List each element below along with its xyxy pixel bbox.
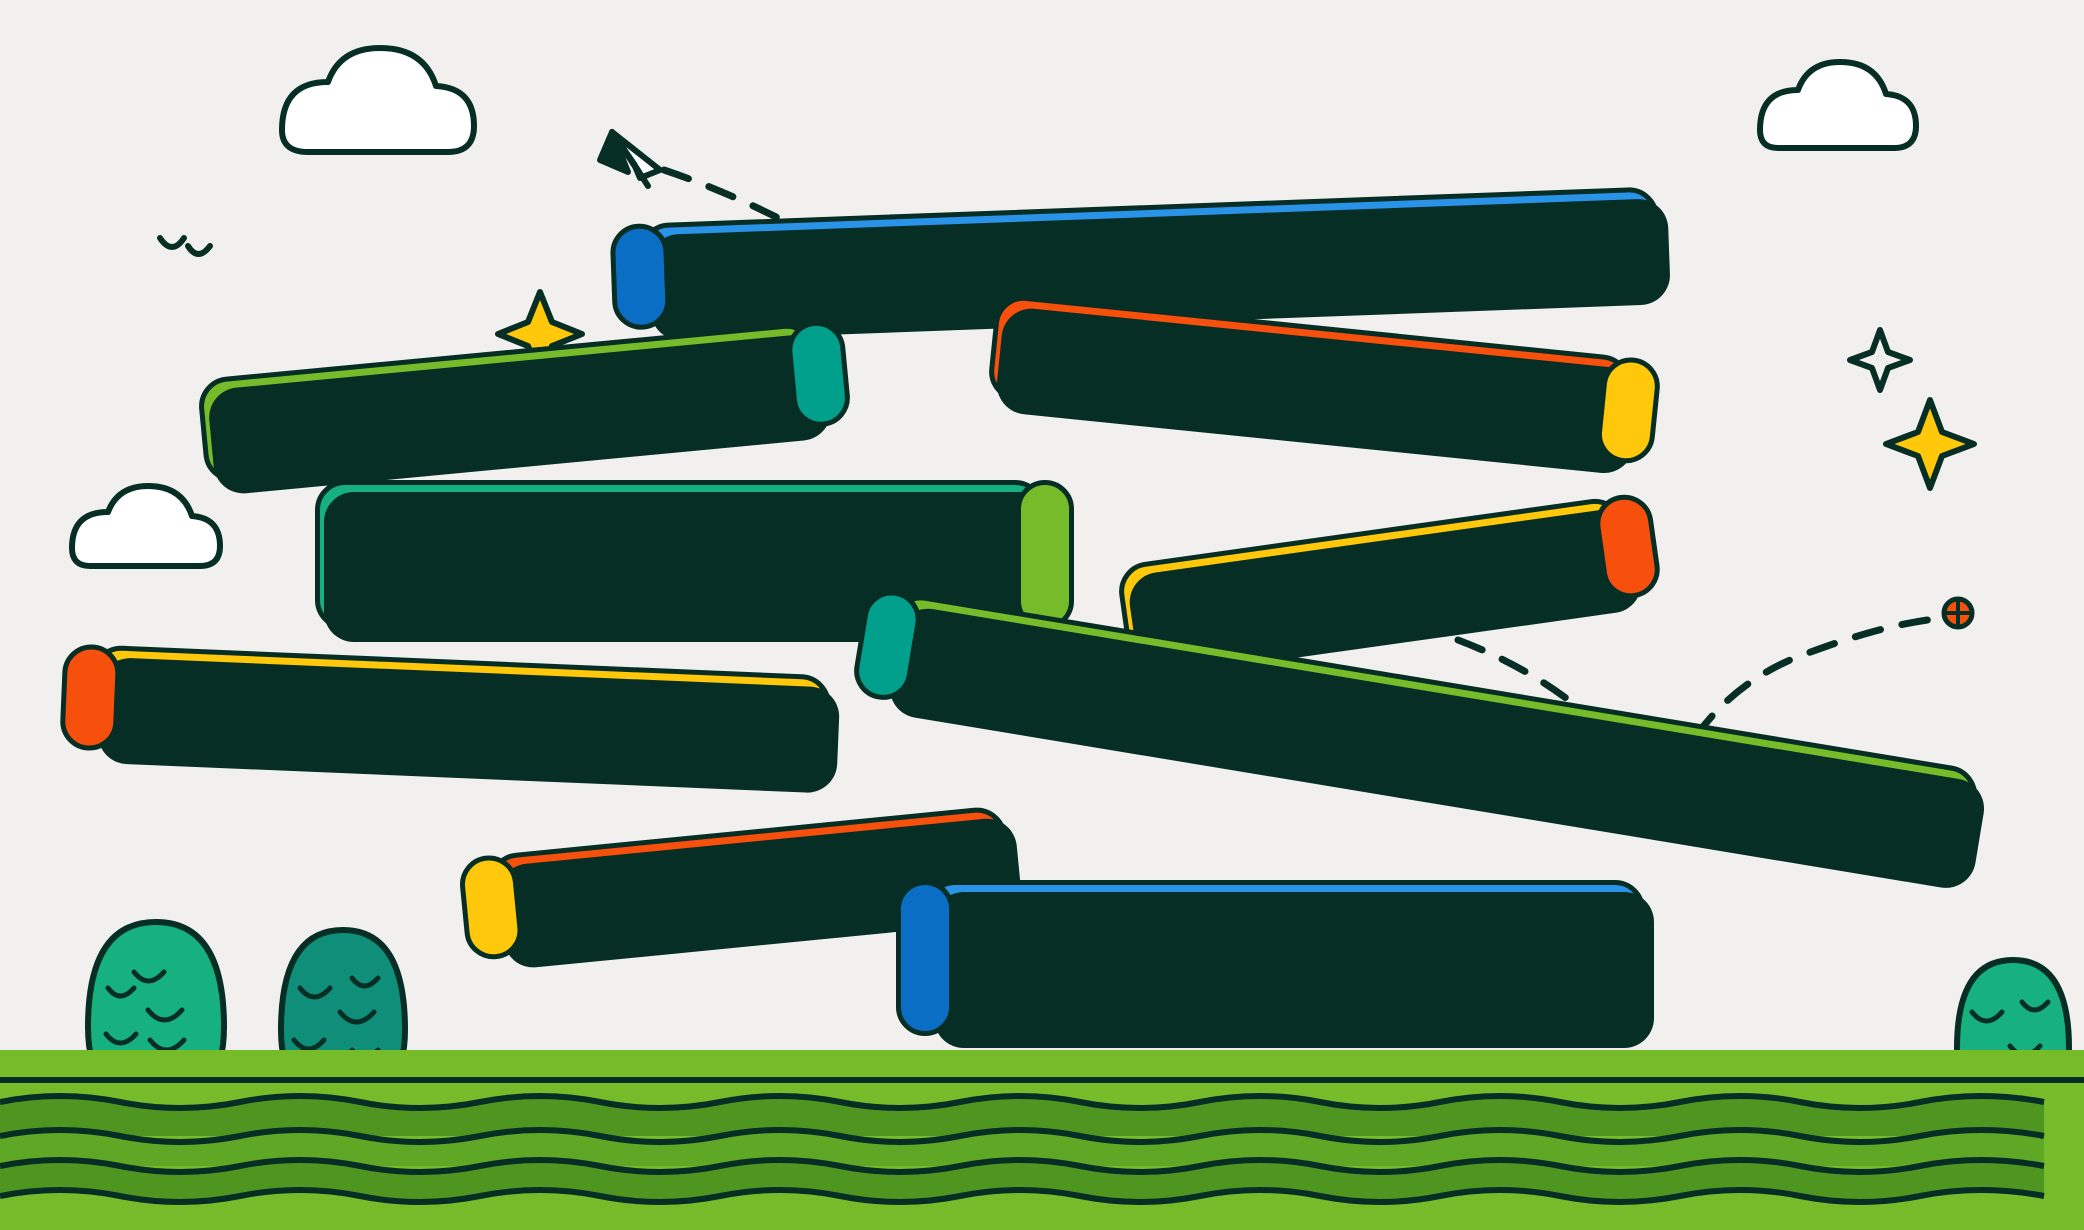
banner-komunitate[interactable]: Komunitate erresilienteak eta trantsizio… <box>925 880 1645 1036</box>
cloud-icon <box>72 486 220 566</box>
cloud-icon <box>282 48 474 152</box>
bird-icon <box>188 246 210 254</box>
basketball-icon <box>1944 599 1972 627</box>
banner-side-cap <box>59 643 121 751</box>
banner-side-cap <box>609 223 671 331</box>
illustration-canvas: Arkitektura bioklimatikoa eta jasangarri… <box>0 0 2084 1230</box>
cloud-icon <box>1760 62 1916 148</box>
dashed-trail-icon <box>664 170 790 224</box>
banner-side-cap <box>896 880 954 1036</box>
banner-label: Bizimodu jasangarriak eta sozialki ardur… <box>384 506 976 605</box>
sparkle-icon <box>1850 330 1910 390</box>
paper-plane-icon <box>600 132 660 186</box>
banner-side-cap <box>1016 480 1074 630</box>
ground <box>0 1050 2084 1230</box>
sparkle-icon <box>1886 400 1974 488</box>
banner-label: Komunitate erresilienteak eta trantsizio… <box>991 909 1578 1008</box>
bird-icon <box>160 238 184 247</box>
